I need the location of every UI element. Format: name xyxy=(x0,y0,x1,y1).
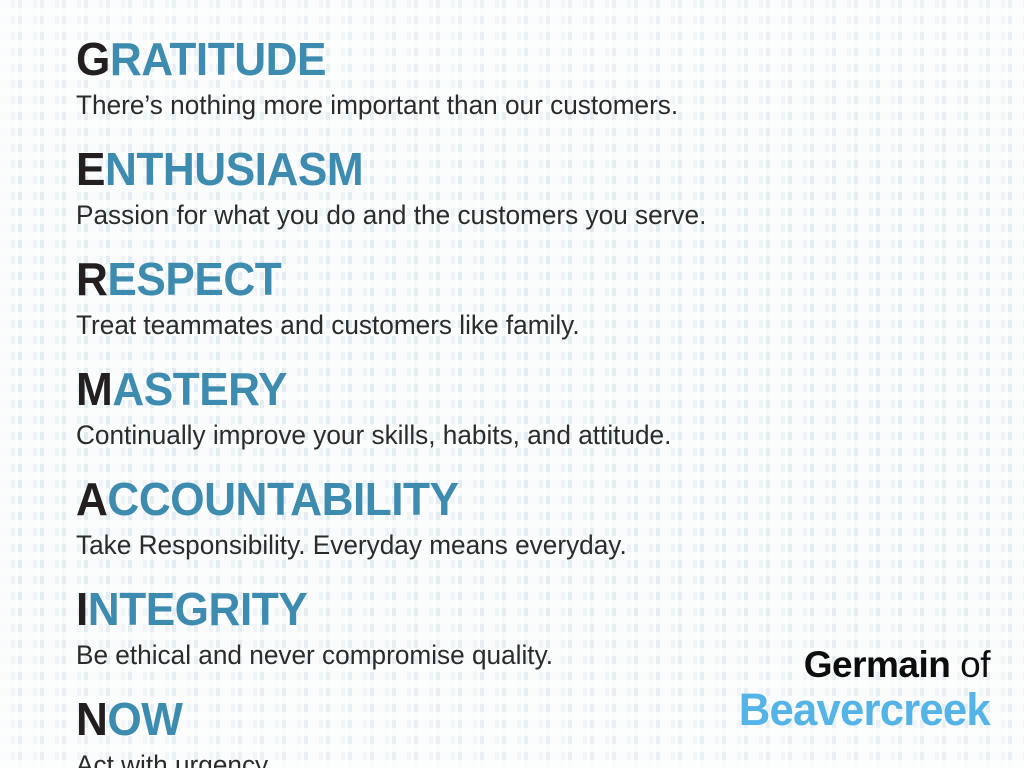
value-description-accountability: Take Responsibility. Everyday means ever… xyxy=(76,525,949,563)
value-description-respect: Treat teammates and customers like famil… xyxy=(76,305,949,343)
logo-brand-name: Germain xyxy=(804,644,951,685)
value-item-mastery: MASTERY Continually improve your skills,… xyxy=(76,363,976,463)
value-remaining-letters: ESPECT xyxy=(107,253,281,305)
value-initial-letter: E xyxy=(76,143,105,195)
value-remaining-letters: CCOUNTABILITY xyxy=(107,473,458,525)
value-description-now: Act with urgency. xyxy=(76,745,949,768)
value-heading-integrity: INTEGRITY xyxy=(76,583,940,635)
value-item-gratitude: GRATITUDE There’s nothing more important… xyxy=(76,33,976,133)
value-initial-letter: N xyxy=(76,693,107,745)
value-initial-letter: I xyxy=(76,583,88,635)
value-remaining-letters: OW xyxy=(107,693,182,745)
logo-top-line: Germain of xyxy=(731,644,990,686)
value-initial-letter: M xyxy=(76,363,112,415)
values-slide: GRATITUDE There’s nothing more important… xyxy=(0,0,1024,768)
value-initial-letter: R xyxy=(76,253,107,305)
value-initial-letter: A xyxy=(76,473,107,525)
logo-connector-word: of xyxy=(950,644,990,685)
dealership-logo: Germain of Beavercreek xyxy=(731,644,990,734)
value-heading-enthusiasm: ENTHUSIASM xyxy=(76,143,940,195)
value-remaining-letters: RATITUDE xyxy=(110,33,326,85)
value-remaining-letters: ASTERY xyxy=(112,363,287,415)
value-item-accountability: ACCOUNTABILITY Take Responsibility. Ever… xyxy=(76,473,976,573)
value-remaining-letters: NTHUSIASM xyxy=(105,143,363,195)
value-item-respect: RESPECT Treat teammates and customers li… xyxy=(76,253,976,353)
value-description-mastery: Continually improve your skills, habits,… xyxy=(76,415,949,453)
value-initial-letter: G xyxy=(76,33,110,85)
value-heading-gratitude: GRATITUDE xyxy=(76,33,940,85)
value-heading-accountability: ACCOUNTABILITY xyxy=(76,473,940,525)
value-heading-mastery: MASTERY xyxy=(76,363,940,415)
value-remaining-letters: NTEGRITY xyxy=(88,583,307,635)
value-heading-respect: RESPECT xyxy=(76,253,940,305)
value-item-enthusiasm: ENTHUSIASM Passion for what you do and t… xyxy=(76,143,976,243)
value-description-enthusiasm: Passion for what you do and the customer… xyxy=(76,195,949,233)
value-description-gratitude: There’s nothing more important than our … xyxy=(76,85,949,123)
logo-location-name: Beavercreek xyxy=(739,686,990,734)
